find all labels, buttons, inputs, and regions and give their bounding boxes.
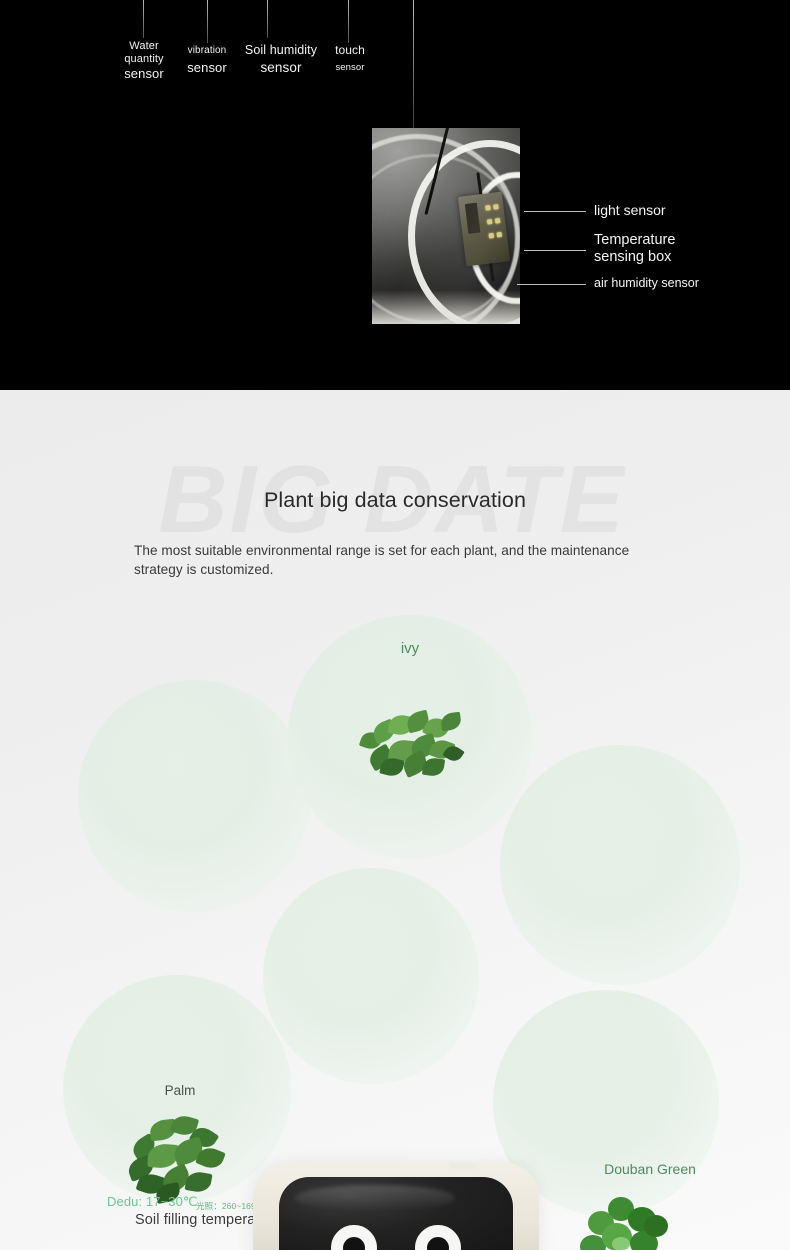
bubble-wolf-tail-fern — [263, 868, 479, 1084]
sensor-pcb — [458, 192, 510, 267]
callout-line-air-humidity — [517, 284, 586, 285]
sensor-label-touch: touch sensor — [324, 43, 376, 73]
plant-title-palm: Palm — [135, 1083, 225, 1098]
touch-line3: sensor — [324, 62, 376, 73]
plant-art-douban-green — [578, 1195, 676, 1250]
robot-eye-left — [331, 1225, 377, 1250]
palm-leaves — [122, 1112, 232, 1204]
leader-line-water-quantity — [143, 0, 144, 38]
pcb-pin-3 — [487, 219, 493, 225]
pcb-pin-2 — [493, 204, 499, 210]
ivy-leaves — [355, 710, 470, 780]
pcb-pin-5 — [489, 233, 495, 239]
callout-line-temperature-box — [524, 250, 586, 251]
temperature-box-line1: Temperature — [594, 232, 675, 249]
plant-big-data-section: BIG DATE Plant big data conservation The… — [0, 390, 790, 1250]
callout-label-air-humidity: air humidity sensor — [594, 276, 699, 291]
plant-art-palm — [122, 1112, 232, 1204]
pcb-pin-1 — [485, 205, 491, 211]
callout-label-temperature-box: Temperature sensing box — [594, 232, 675, 266]
leader-line-vibration — [207, 0, 208, 43]
robot-face-screen — [279, 1177, 513, 1250]
product-detail-page: Water quantity sensor vibration sensor S… — [0, 0, 790, 1250]
douban-leaf — [644, 1215, 668, 1237]
water-quantity-line3: sensor — [113, 66, 175, 81]
pcb-pin-6 — [497, 232, 503, 238]
sensor-diagram-section: Water quantity sensor vibration sensor S… — [0, 0, 790, 390]
robot-device — [253, 1163, 539, 1250]
plant-title-ivy: ivy — [330, 640, 490, 657]
leader-line-touch — [348, 0, 349, 43]
soil-humidity-line2: Soil humidity — [228, 43, 334, 58]
ivy-leaf — [440, 712, 462, 732]
douban-leaf — [612, 1237, 630, 1250]
pcb-pin-4 — [495, 218, 501, 224]
temperature-box-line2: sensing box — [594, 249, 675, 266]
robot-eye-right — [415, 1225, 461, 1250]
bubble-douban-green — [500, 745, 740, 985]
air-humidity-text: air humidity sensor — [594, 276, 699, 290]
spec-temp-palm: Dedu: 17~30℃ — [107, 1194, 198, 1210]
soil-humidity-line3: sensor — [228, 60, 334, 76]
leader-line-soil-humidity — [267, 0, 268, 38]
leader-line-device — [413, 0, 414, 128]
pcb-chip-a — [465, 203, 481, 234]
page-subtitle: The most suitable environmental range is… — [134, 542, 664, 580]
robot-screen-gloss — [295, 1185, 455, 1211]
page-title: Plant big data conservation — [0, 488, 790, 513]
touch-line2: touch — [324, 43, 376, 57]
water-quantity-line1: Water — [113, 40, 175, 53]
sensor-label-soil-humidity: Soil humidity sensor — [228, 43, 334, 76]
photo-base-shadow — [372, 290, 520, 324]
bubble-palm — [78, 680, 310, 912]
sensor-label-water-quantity: Water quantity sensor — [113, 40, 175, 81]
robot-antenna — [449, 1163, 479, 1173]
light-sensor-text: light sensor — [594, 202, 666, 218]
plant-title-douban-green: Douban Green — [558, 1161, 742, 1177]
plant-art-ivy — [355, 710, 470, 780]
water-quantity-line2: quantity — [113, 53, 175, 66]
device-closeup-photo — [372, 128, 520, 324]
douban-leaves — [578, 1195, 676, 1250]
callout-label-light-sensor: light sensor — [594, 202, 666, 218]
callout-line-light-sensor — [524, 211, 586, 212]
